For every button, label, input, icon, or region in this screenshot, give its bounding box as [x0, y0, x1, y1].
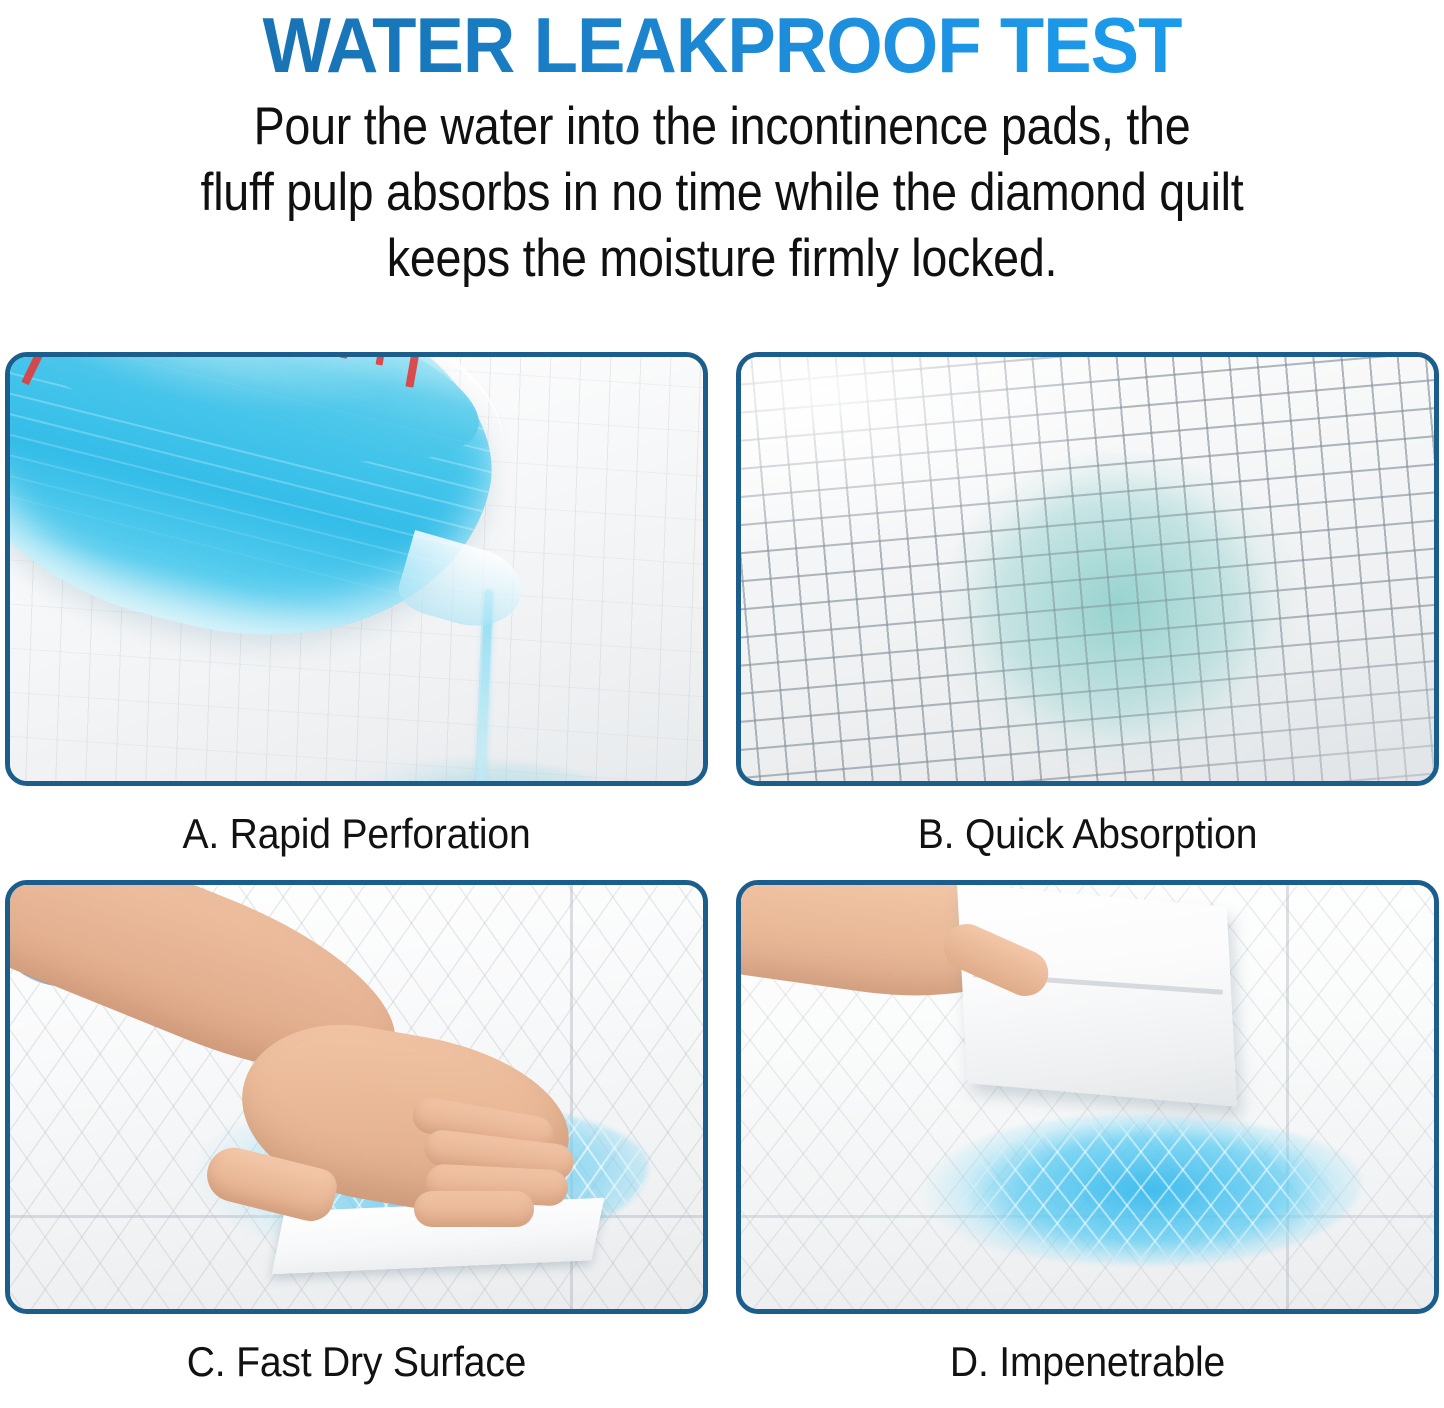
panel-c-frame — [5, 880, 708, 1314]
page-subtitle: Pour the water into the incontinence pad… — [87, 88, 1358, 292]
subtitle-line-2: fluff pulp absorbs in no time while the … — [122, 160, 1322, 226]
panel-grid: A. Rapid Perforation B. Quick Absorption — [5, 352, 1439, 1408]
panel-d-photo — [741, 885, 1434, 1309]
panel-d-frame — [736, 880, 1439, 1314]
panel-b: B. Quick Absorption — [736, 352, 1439, 880]
subtitle-line-3: keeps the moisture firmly locked. — [122, 226, 1322, 292]
page-title: WATER LEAKPROOF TEST — [51, 2, 1394, 88]
panel-d: D. Impenetrable — [736, 880, 1439, 1408]
panel-a-photo — [10, 357, 703, 781]
panel-b-frame — [736, 352, 1439, 786]
panel-a-frame — [5, 352, 708, 786]
photo-lighting — [741, 357, 1434, 781]
panel-c-caption: C. Fast Dry Surface — [30, 1314, 684, 1408]
dry-paper-tissue — [957, 883, 1237, 1106]
panel-d-caption: D. Impenetrable — [761, 1314, 1415, 1408]
finger — [414, 1191, 534, 1227]
subtitle-line-1: Pour the water into the incontinence pad… — [122, 94, 1322, 160]
panel-a-caption: A. Rapid Perforation — [30, 786, 684, 880]
panel-a: A. Rapid Perforation — [5, 352, 708, 880]
locked-blue-stain-quilt — [921, 1115, 1361, 1265]
header-block: WATER LEAKPROOF TEST Pour the water into… — [0, 0, 1444, 292]
panel-c-photo — [10, 885, 703, 1309]
panel-c: C. Fast Dry Surface — [5, 880, 708, 1408]
panel-b-photo — [741, 357, 1434, 781]
panel-b-caption: B. Quick Absorption — [761, 786, 1415, 880]
